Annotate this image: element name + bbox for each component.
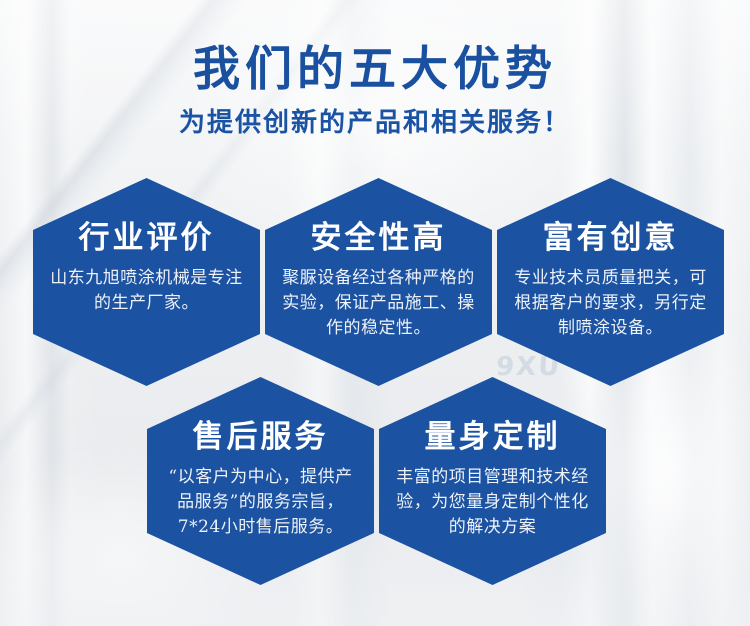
advantage-desc-2: 聚脲设备经过各种严格的实验，保证产品施工、操作的稳定性。 — [265, 266, 492, 341]
advantage-title-2: 安全性高 — [311, 220, 447, 256]
advantage-desc-5: 丰富的项目管理和技术经验，为您量身定制个性化的解决方案 — [379, 465, 606, 540]
advantage-title-5: 量身定制 — [425, 419, 561, 455]
promo-banner: 9XU 我们的五大优势 为提供创新的产品和相关服务！ 行业评价 山东九旭喷涂机械… — [0, 0, 750, 626]
header: 我们的五大优势 为提供创新的产品和相关服务！ — [0, 42, 750, 138]
page-title: 我们的五大优势 — [0, 42, 750, 98]
advantage-card-1[interactable]: 行业评价 山东九旭喷涂机械是专注的生产厂家。 — [33, 178, 260, 386]
advantage-card-5[interactable]: 量身定制 丰富的项目管理和技术经验，为您量身定制个性化的解决方案 — [379, 377, 606, 585]
advantage-desc-1: 山东九旭喷涂机械是专注的生产厂家。 — [33, 266, 260, 316]
advantage-title-3: 富有创意 — [543, 220, 679, 256]
advantage-title-1: 行业评价 — [79, 220, 215, 256]
advantage-desc-3: 专业技术员质量把关，可根据客户的要求，另行定制喷涂设备。 — [497, 266, 724, 341]
advantage-desc-4: “以客户为中心，提供产品服务”的服务宗旨，7*24小时售后服务。 — [147, 465, 374, 540]
advantage-card-4[interactable]: 售后服务 “以客户为中心，提供产品服务”的服务宗旨，7*24小时售后服务。 — [147, 377, 374, 585]
page-subtitle: 为提供创新的产品和相关服务！ — [0, 108, 750, 138]
advantage-title-4: 售后服务 — [193, 419, 329, 455]
advantage-card-2[interactable]: 安全性高 聚脲设备经过各种严格的实验，保证产品施工、操作的稳定性。 — [265, 178, 492, 386]
